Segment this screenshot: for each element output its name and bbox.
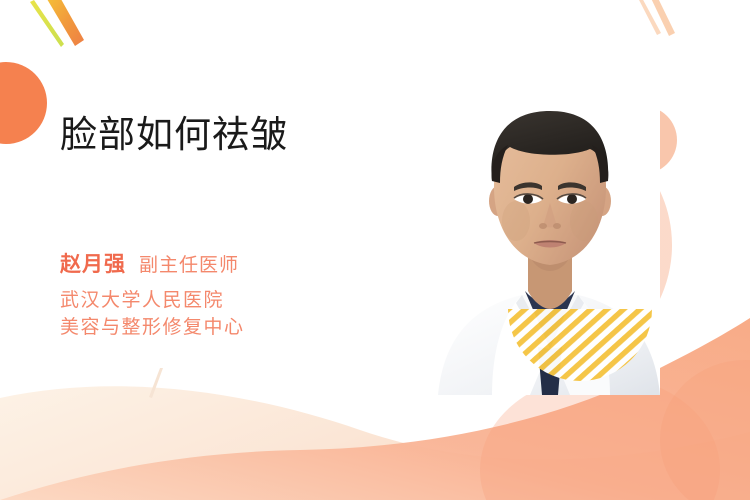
doctor-credentials: 赵月强 副主任医师 武汉大学人民医院 美容与整形修复中心 xyxy=(60,248,420,342)
doctor-name: 赵月强 xyxy=(60,248,126,278)
doctor-title: 副主任医师 xyxy=(139,250,239,277)
doctor-portrait xyxy=(430,95,660,395)
doctor-feature-card: 脸部如何祛皱 赵月强 副主任医师 武汉大学人民医院 美容与整形修复中心 xyxy=(0,0,750,500)
doctor-name-row: 赵月强 副主任医师 xyxy=(60,248,420,278)
doctor-department: 美容与整形修复中心 xyxy=(60,315,420,342)
headline-block: 脸部如何祛皱 xyxy=(60,112,400,158)
eye-left xyxy=(523,194,533,204)
page-title: 脸部如何祛皱 xyxy=(60,112,400,158)
doctor-hospital: 武汉大学人民医院 xyxy=(60,288,420,315)
eye-right xyxy=(567,194,577,204)
